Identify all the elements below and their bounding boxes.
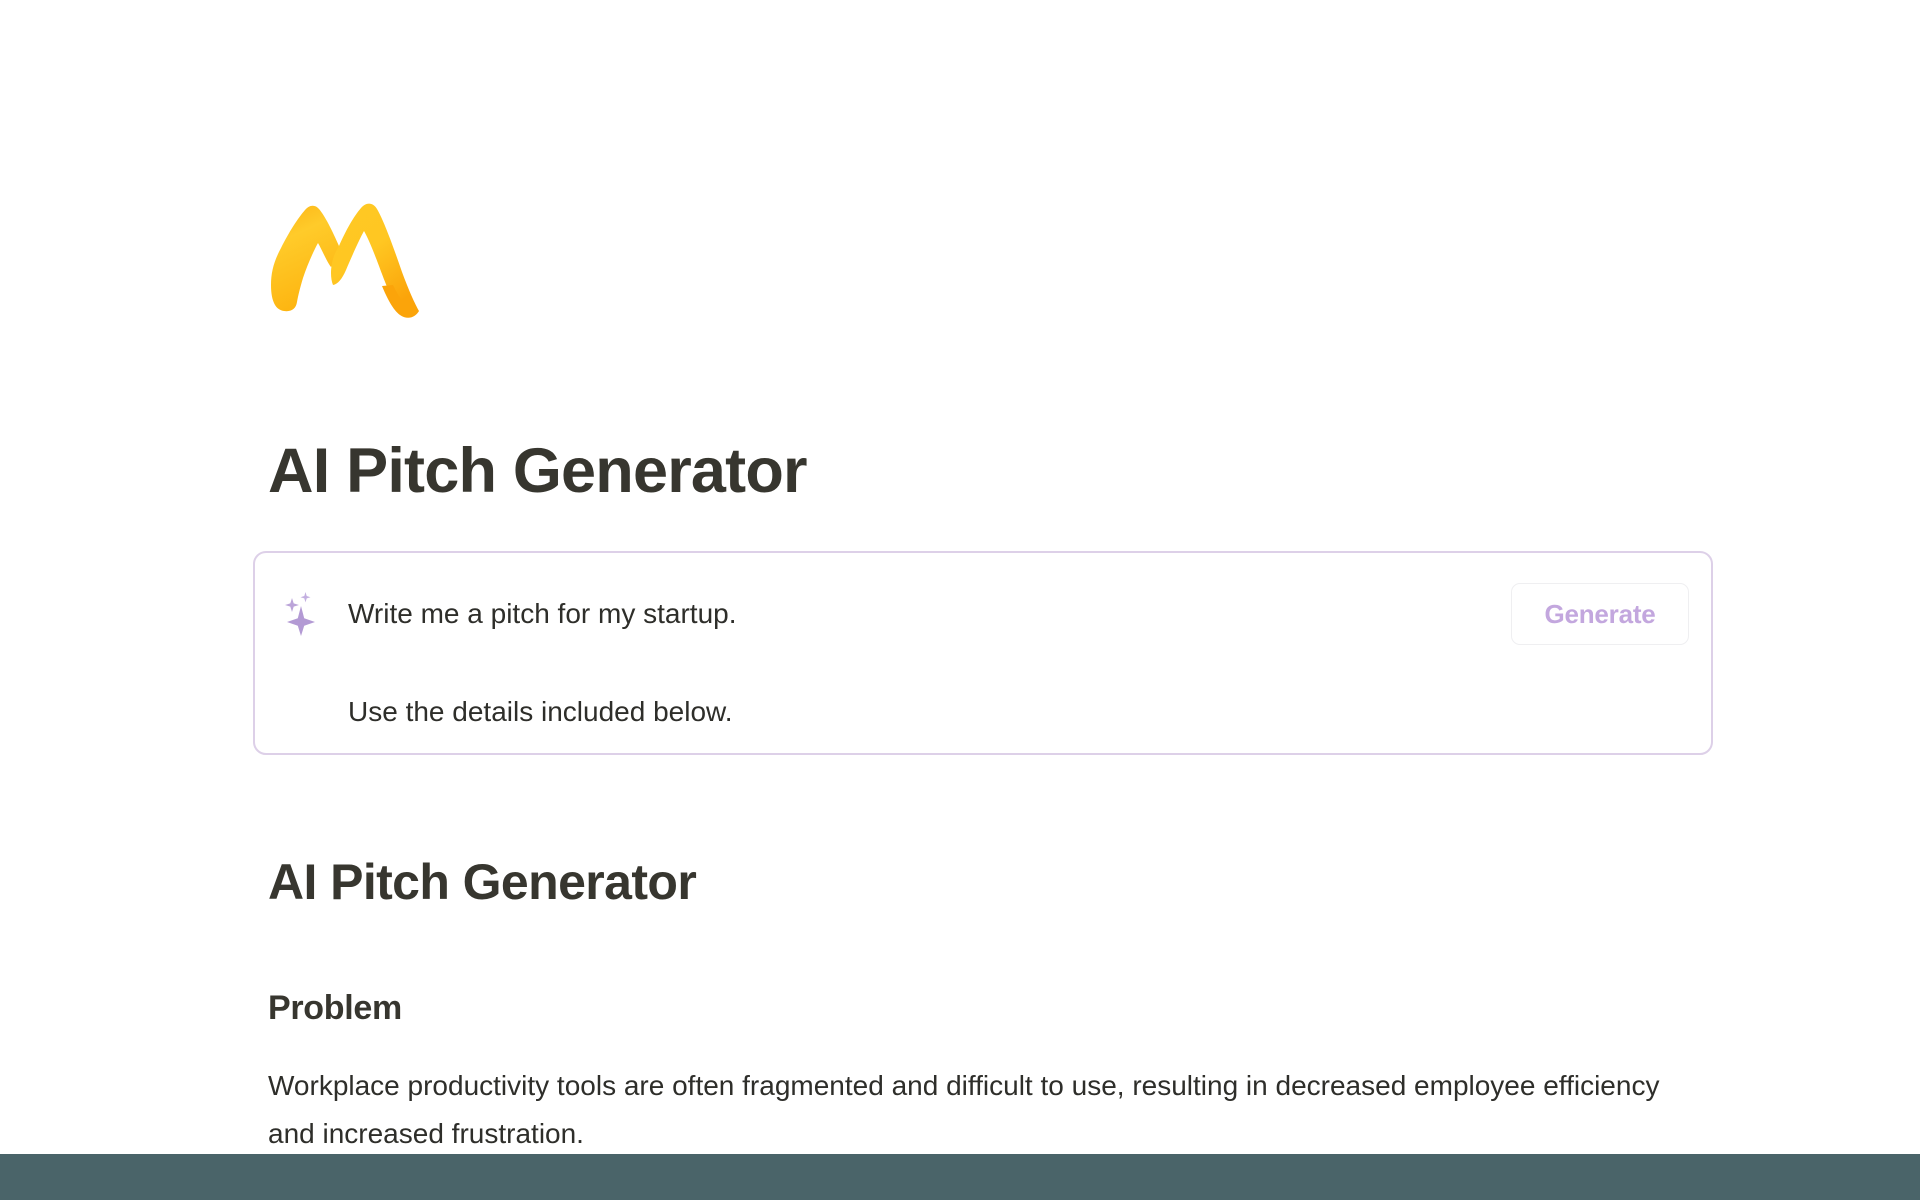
document-title: AI Pitch Generator xyxy=(268,855,696,909)
logo-stroke-right xyxy=(331,204,419,315)
ai-sparkle-icon xyxy=(283,592,321,636)
app-logo[interactable] xyxy=(265,190,435,320)
page-canvas: AI Pitch Generator Write me a pitch for … xyxy=(0,0,1920,1200)
prompt-text-line-1[interactable]: Write me a pitch for my startup. xyxy=(348,595,737,633)
bottom-bar xyxy=(0,1154,1920,1200)
section-body-problem: Workplace productivity tools are often f… xyxy=(268,1062,1668,1158)
prompt-card-body: Write me a pitch for my startup. Use the… xyxy=(255,553,1711,753)
generate-button[interactable]: Generate xyxy=(1511,583,1689,645)
prompt-text-line-2[interactable]: Use the details included below. xyxy=(348,693,732,731)
logo-stroke-left xyxy=(271,206,339,311)
ai-prompt-card[interactable]: Write me a pitch for my startup. Use the… xyxy=(253,551,1713,755)
section-heading-problem: Problem xyxy=(268,990,402,1027)
milanote-m-logo-icon xyxy=(265,190,435,320)
page-title: AI Pitch Generator xyxy=(268,437,807,505)
